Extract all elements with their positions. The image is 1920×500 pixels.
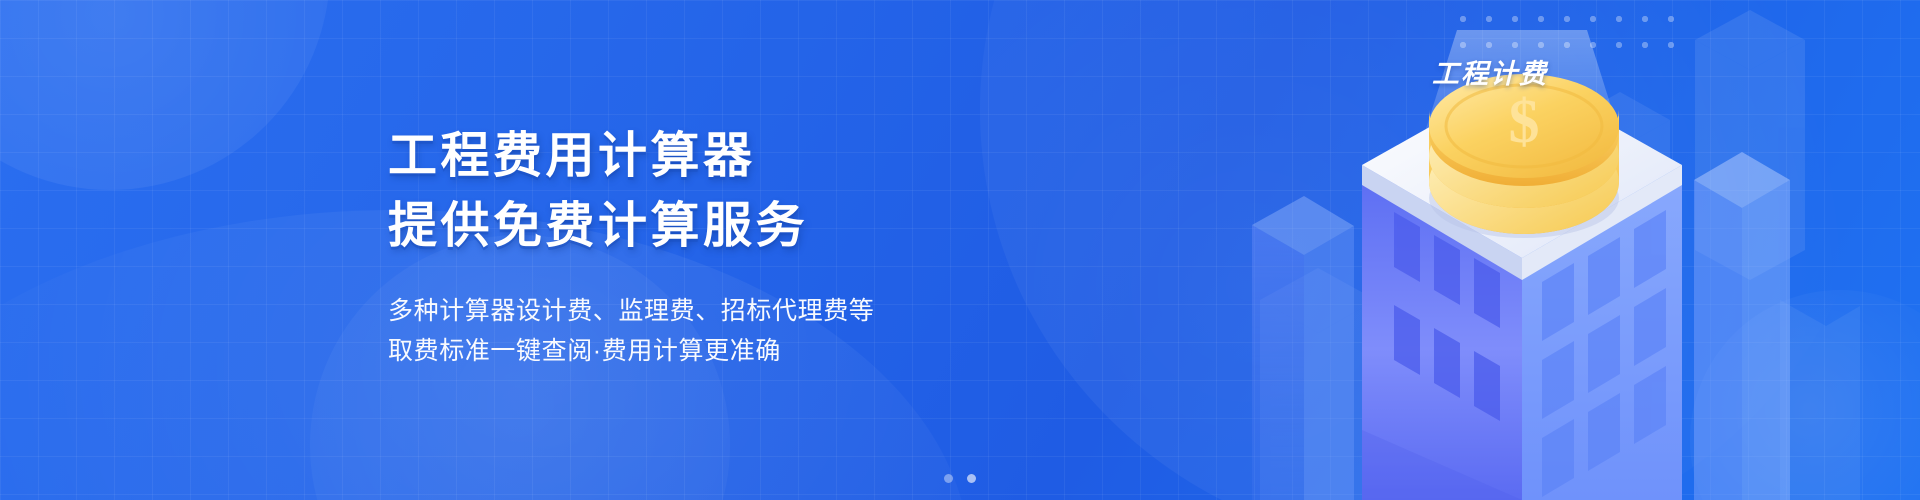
carousel-dot-1[interactable] bbox=[944, 474, 953, 483]
carousel-indicators[interactable] bbox=[0, 474, 1920, 483]
banner-text-content: 工程费用计算器 提供免费计算服务 多种计算器设计费、监理费、招标代理费等 取费标… bbox=[388, 0, 874, 500]
description-line-2: 取费标准一键查阅·费用计算更准确 bbox=[388, 331, 874, 372]
headline-line-1: 工程费用计算器 bbox=[388, 128, 874, 185]
illustration-badge-label: 工程计费 bbox=[1432, 52, 1548, 91]
dollar-sign-icon: $ bbox=[1509, 88, 1540, 156]
carousel-dot-2[interactable] bbox=[967, 474, 976, 483]
banner-illustration: 工程计费 bbox=[1242, 30, 1802, 500]
description-line-1: 多种计算器设计费、监理费、招标代理费等 bbox=[388, 291, 874, 332]
decorative-circle-top-left bbox=[0, 0, 330, 190]
banner-description: 多种计算器设计费、监理费、招标代理费等 取费标准一键查阅·费用计算更准确 bbox=[388, 291, 874, 372]
side-tower-right bbox=[1694, 152, 1790, 500]
banner-headline: 工程费用计算器 提供免费计算服务 bbox=[388, 128, 874, 255]
side-tower-left bbox=[1252, 196, 1354, 500]
gold-coin-stack: $ bbox=[1429, 74, 1619, 234]
headline-line-2: 提供免费计算服务 bbox=[388, 198, 874, 255]
isometric-building-coin-graphic: $ bbox=[1242, 30, 1802, 500]
promo-banner: 工程费用计算器 提供免费计算服务 多种计算器设计费、监理费、招标代理费等 取费标… bbox=[0, 0, 1920, 500]
